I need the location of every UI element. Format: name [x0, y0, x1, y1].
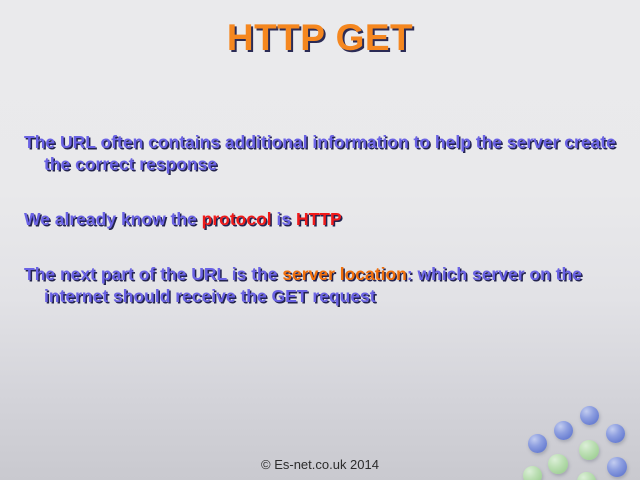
page-title: HTTP GET [0, 16, 640, 60]
footer-copyright: © Es-net.co.uk 2014 [0, 457, 640, 472]
paragraph-url-info: The URL often contains additional inform… [24, 131, 616, 175]
paragraph-protocol-run-0: We already know the [24, 209, 202, 229]
paragraph-server-location-run-0: The next part of the URL is the [24, 264, 282, 284]
highlight-http: HTTP [296, 209, 342, 229]
decorative-sphere-2 [606, 424, 625, 443]
paragraph-protocol: We already know the protocol is HTTP [24, 208, 616, 230]
decorative-sphere-0 [580, 406, 599, 425]
paragraph-server-location: The next part of the URL is the server l… [24, 263, 616, 307]
decorative-sphere-8 [577, 472, 596, 480]
highlight-server-location: server location [282, 264, 407, 284]
slide-canvas: HTTP GET The URL often contains addition… [0, 0, 640, 480]
slide-body: The URL often contains additional inform… [24, 131, 616, 340]
highlight-protocol: protocol [202, 209, 272, 229]
decorative-sphere-1 [554, 421, 573, 440]
paragraph-url-info-text: The URL often contains additional inform… [24, 132, 616, 174]
decorative-sphere-3 [528, 434, 547, 453]
paragraph-protocol-run-2: is [272, 209, 296, 229]
